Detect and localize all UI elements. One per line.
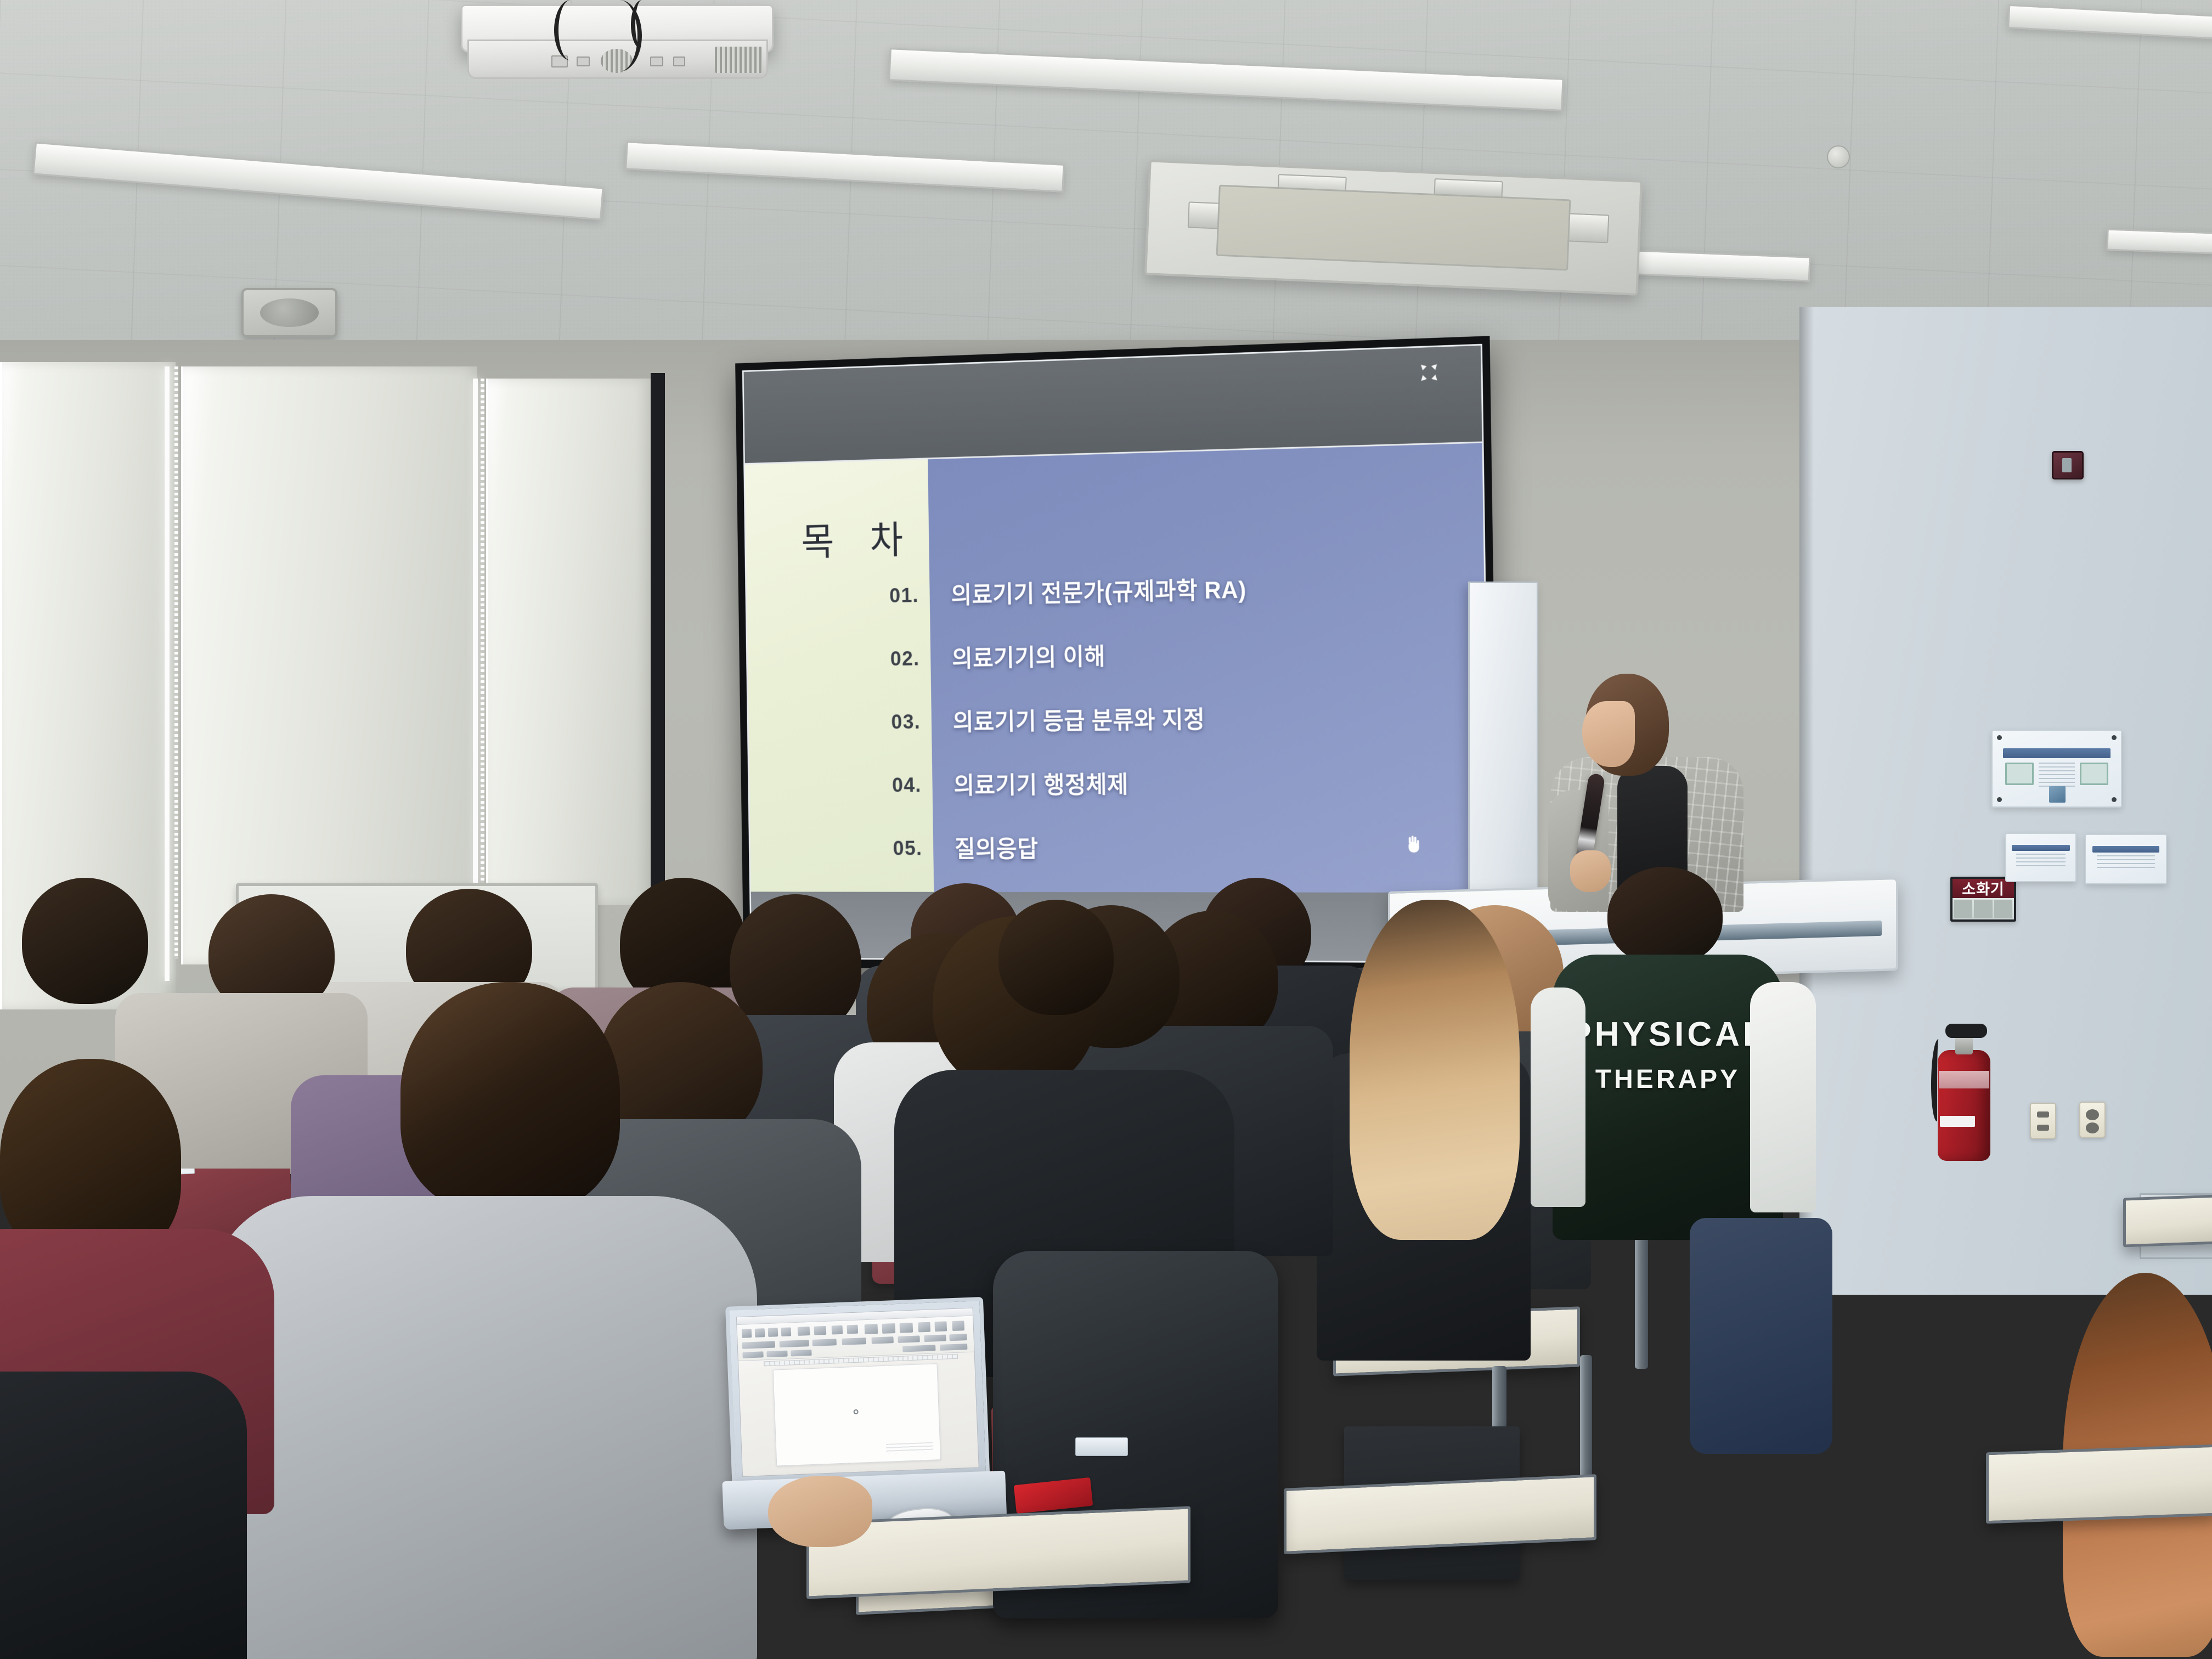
blind-chain	[174, 366, 178, 959]
extinguisher-neck	[1955, 1036, 1973, 1054]
student-jeans	[1690, 1218, 1832, 1454]
student-hand	[768, 1476, 872, 1547]
ribbon-tool-icon[interactable]	[791, 1350, 811, 1356]
jacket-text-line-2: THERAPY	[1595, 1064, 1740, 1094]
placard-screw-icon	[1997, 735, 2002, 740]
ribbon-tool-icon[interactable]	[865, 1324, 878, 1334]
ribbon-tool-icon[interactable]	[900, 1323, 913, 1333]
ribbon-tool-icon[interactable]	[898, 1335, 919, 1343]
placard-diagram-icon	[2005, 763, 2033, 785]
wall-speaker	[241, 288, 337, 337]
student-desk	[1284, 1474, 1596, 1554]
laptop-lid	[725, 1297, 990, 1488]
projector-port-icon	[673, 57, 685, 66]
laptop-screen[interactable]	[736, 1308, 979, 1477]
wall-small-placard	[2085, 834, 2167, 884]
placard-header-bar	[2003, 748, 2111, 758]
projection-screen[interactable]: 목 차 01. 02. 03. 04. 05. 의료기기 전문가(규제과학 RA…	[735, 336, 1499, 972]
projector-port-icon	[577, 57, 590, 66]
student-desk	[2123, 1194, 2212, 1248]
slide-item-number: 04.	[749, 775, 922, 838]
ac-vane-icon	[1277, 174, 1346, 197]
ribbon-tool-icon[interactable]	[742, 1341, 775, 1349]
varsity-jacket-sleeve	[1531, 988, 1585, 1207]
student-desk	[1986, 1444, 2212, 1524]
ribbon-tool-icon[interactable]	[847, 1325, 859, 1334]
ribbon-tool-icon[interactable]	[952, 1321, 964, 1331]
slide-item-number: 02.	[748, 648, 921, 714]
ribbon-tool-icon[interactable]	[768, 1328, 778, 1337]
student-hair	[1350, 900, 1520, 1240]
ribbon-tool-icon[interactable]	[812, 1339, 837, 1346]
ribbon-tool-icon[interactable]	[742, 1351, 763, 1358]
backpack-name-tag	[1075, 1437, 1128, 1456]
ribbon-tool-icon[interactable]	[781, 1327, 792, 1336]
placard-symbol-icon	[2049, 786, 2066, 803]
presenter-face	[1582, 701, 1635, 767]
slide-number-column: 01. 02. 03. 04. 05.	[747, 585, 923, 893]
fire-sign-label: 소화기	[1953, 879, 2014, 898]
wall-power-outlet[interactable]	[2079, 1102, 2106, 1138]
text-cursor-icon	[853, 1409, 858, 1414]
fire-extinguisher-sign: 소화기	[1950, 877, 2016, 922]
slide-item-number: 01.	[747, 585, 919, 651]
placard-text-lines	[2039, 763, 2075, 787]
ac-vane-icon	[1188, 201, 1238, 230]
slide-item-number: 03.	[748, 712, 921, 776]
extinguisher-label	[1940, 1116, 1975, 1127]
varsity-jacket-sleeve	[1750, 982, 1816, 1212]
placard-text-lines	[2097, 855, 2154, 871]
window-blind	[181, 366, 477, 964]
placard-screw-icon	[1997, 797, 2002, 802]
blind-chain	[481, 379, 484, 916]
student-dark-jacket	[0, 1372, 247, 1659]
projector-port-icon	[650, 57, 663, 66]
fire-alarm-device	[2052, 451, 2084, 479]
window-light-gap	[165, 366, 170, 981]
ribbon-tool-icon[interactable]	[918, 1322, 930, 1333]
projector-cable	[554, 0, 587, 60]
ribbon-tool-icon[interactable]	[871, 1336, 893, 1344]
varsity-jacket: PHYSICAL THERAPY	[1553, 955, 1783, 1240]
placard-text-lines	[2016, 854, 2066, 869]
outlet-socket-icon	[2086, 1109, 2099, 1120]
jacket-text-line-1: PHYSICAL	[1568, 1015, 1767, 1054]
student-head	[1607, 867, 1723, 966]
placard-header-bar	[2092, 846, 2160, 852]
slide-item-label: 의료기기 행정체제	[953, 771, 1488, 838]
extinguisher-handle	[1945, 1024, 1987, 1038]
ac-vane-icon	[1434, 178, 1503, 199]
ceiling-ac-unit	[1144, 160, 1643, 296]
student-head	[400, 982, 620, 1212]
extinguisher-band	[1939, 1071, 1989, 1088]
slide-content: 의료기기 전문가(규제과학 RA) 의료기기의 이해 의료기기 등급 분류와 지…	[928, 443, 1489, 893]
slide-heading: 목 차	[801, 508, 917, 566]
document-page[interactable]	[773, 1363, 941, 1466]
student-head	[22, 878, 148, 1004]
switch-slot-icon	[2037, 1111, 2049, 1118]
placard-header-bar	[2012, 845, 2070, 851]
ceiling-light-fixture	[2106, 229, 2212, 255]
switch-slot-icon	[2037, 1125, 2049, 1131]
wall-instruction-placard	[1991, 730, 2122, 808]
ceiling-sprinkler-icon	[1827, 145, 1850, 168]
ac-vane-icon	[1564, 213, 1609, 244]
presenter-hand	[1570, 850, 1611, 892]
activation-watermark	[886, 1442, 934, 1454]
projector-vent-icon	[715, 47, 762, 73]
projector-cable	[631, 0, 653, 49]
slide-item-label: 의료기기 전문가(규제과학 RA)	[951, 573, 1485, 647]
slide-sidebar: 목 차 01. 02. 03. 04. 05.	[745, 459, 934, 892]
placard-screw-icon	[2112, 797, 2117, 802]
ribbon-tool-icon[interactable]	[766, 1351, 787, 1357]
wall-switch-plate[interactable]	[2030, 1103, 2056, 1139]
slide-item-label: 의료기기의 이해	[952, 639, 1486, 711]
presentation-slide[interactable]: 목 차 01. 02. 03. 04. 05. 의료기기 전문가(규제과학 RA…	[745, 443, 1489, 893]
window-blind	[486, 379, 651, 905]
placard-diagram-icon	[2080, 763, 2108, 785]
ribbon-tool-icon[interactable]	[934, 1321, 947, 1331]
fire-sign-pictograms	[1953, 898, 2014, 919]
ribbon-tool-icon[interactable]	[832, 1325, 843, 1335]
outlet-socket-icon	[2086, 1122, 2099, 1133]
fire-sign-pictogram-icon	[1974, 900, 1992, 918]
ribbon-tool-icon[interactable]	[940, 1344, 967, 1351]
ribbon-tool-icon[interactable]	[949, 1334, 967, 1341]
ribbon-tool-icon[interactable]	[798, 1327, 810, 1336]
fire-sign-pictogram-icon	[1994, 900, 2012, 918]
ribbon-tool-icon[interactable]	[742, 1329, 752, 1338]
ribbon-tool-icon[interactable]	[755, 1328, 765, 1338]
window-frame	[651, 373, 665, 911]
ribbon-tool-icon[interactable]	[780, 1340, 809, 1347]
fire-extinguisher	[1930, 1014, 1995, 1161]
fire-sign-pictogram-icon	[1954, 900, 1972, 918]
ribbon-tool-icon[interactable]	[924, 1335, 946, 1342]
student-sweater	[208, 1196, 757, 1659]
hand-cursor-icon[interactable]	[1404, 834, 1421, 853]
placard-screw-icon	[2112, 735, 2117, 740]
lecture-hall-photo: 목 차 01. 02. 03. 04. 05. 의료기기 전문가(규제과학 RA…	[0, 0, 2212, 1659]
slide-item-number: 05.	[750, 838, 923, 893]
ribbon-tool-icon[interactable]	[814, 1326, 827, 1335]
wall-small-placard	[2005, 833, 2076, 882]
ribbon-tool-icon[interactable]	[842, 1338, 866, 1345]
shrink-arrows-cursor-icon[interactable]	[1420, 363, 1438, 382]
ribbon-tool-icon[interactable]	[882, 1323, 896, 1334]
extinguisher-cylinder	[1938, 1050, 1990, 1161]
slide-item-label: 의료기기 등급 분류와 지정	[953, 705, 1487, 775]
student-head	[998, 900, 1114, 1015]
window-light-gap	[473, 379, 478, 933]
ribbon-tool-icon[interactable]	[902, 1345, 935, 1352]
